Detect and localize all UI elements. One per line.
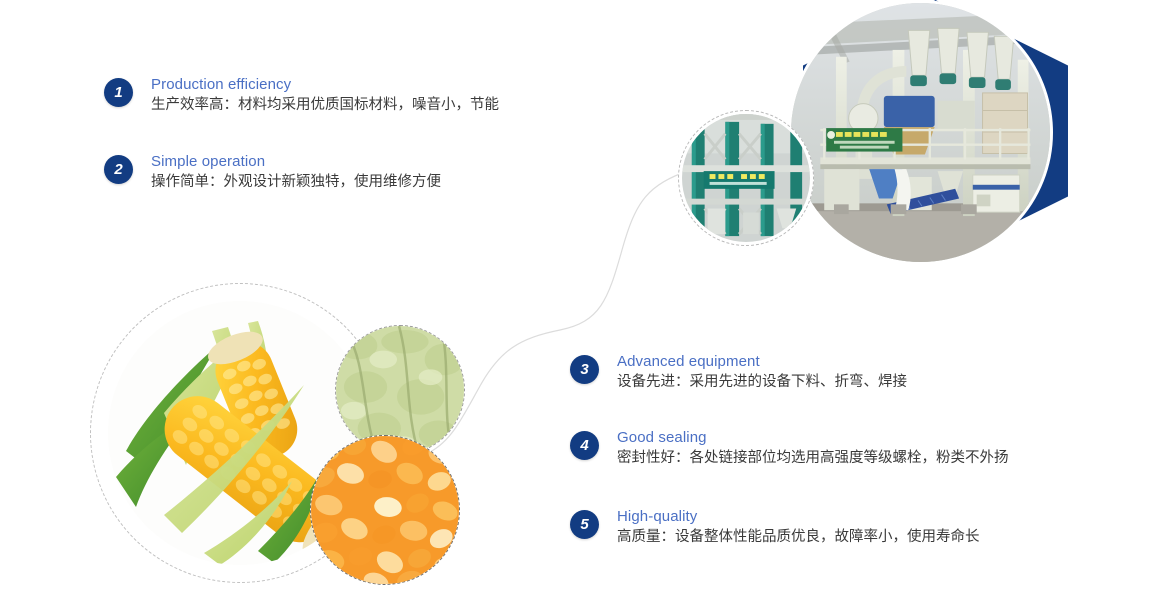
feature-badge-5: 5 — [570, 510, 599, 539]
feature-item-3[interactable]: 3 Advanced equipment 设备先进：采用先进的设备下料、折弯、焊… — [570, 352, 907, 393]
flour-milling-plant-photo — [788, 0, 1053, 265]
feature-item-5[interactable]: 5 High-quality 高质量：设备整体性能品质优良，故障率小，使用寿命长 — [570, 507, 980, 548]
corn-paste-photo — [335, 325, 465, 455]
feature-description-2: 操作简单：外观设计新颖独特，使用维修方便 — [151, 172, 441, 193]
feature-badge-4: 4 — [570, 431, 599, 460]
feature-text-1: Production efficiency 生产效率高：材料均采用优质国标材料，… — [151, 75, 499, 116]
feature-text-2: Simple operation 操作简单：外观设计新颖独特，使用维修方便 — [151, 152, 441, 193]
feature-badge-1: 1 — [104, 78, 133, 107]
corn-grits-photo — [310, 435, 460, 585]
feature-description-5: 高质量：设备整体性能品质优良，故障率小，使用寿命长 — [617, 527, 980, 548]
feature-item-1[interactable]: 1 Production efficiency 生产效率高：材料均采用优质国标材… — [104, 75, 499, 116]
feature-description-3: 设备先进：采用先进的设备下料、折弯、焊接 — [617, 372, 907, 393]
feature-badge-2: 2 — [104, 155, 133, 184]
feature-title-2: Simple operation — [151, 152, 441, 171]
feature-item-4[interactable]: 4 Good sealing 密封性好：各处链接部位均选用高强度等级螺栓，粉类不… — [570, 428, 1009, 469]
feature-badge-3: 3 — [570, 355, 599, 384]
feature-title-3: Advanced equipment — [617, 352, 907, 371]
feature-item-2[interactable]: 2 Simple operation 操作简单：外观设计新颖独特，使用维修方便 — [104, 152, 441, 193]
green-milling-machinery-photo — [678, 110, 814, 246]
feature-title-4: Good sealing — [617, 428, 1009, 447]
feature-text-4: Good sealing 密封性好：各处链接部位均选用高强度等级螺栓，粉类不外扬 — [617, 428, 1009, 469]
feature-text-5: High-quality 高质量：设备整体性能品质优良，故障率小，使用寿命长 — [617, 507, 980, 548]
feature-description-1: 生产效率高：材料均采用优质国标材料，噪音小，节能 — [151, 95, 499, 116]
feature-title-5: High-quality — [617, 507, 980, 526]
feature-description-4: 密封性好：各处链接部位均选用高强度等级螺栓，粉类不外扬 — [617, 448, 1009, 469]
corn-media-group — [90, 280, 490, 591]
feature-title-1: Production efficiency — [151, 75, 499, 94]
factory-media-group — [660, 0, 1154, 278]
feature-text-3: Advanced equipment 设备先进：采用先进的设备下料、折弯、焊接 — [617, 352, 907, 393]
infographic-canvas: 1 Production efficiency 生产效率高：材料均采用优质国标材… — [0, 0, 1154, 591]
